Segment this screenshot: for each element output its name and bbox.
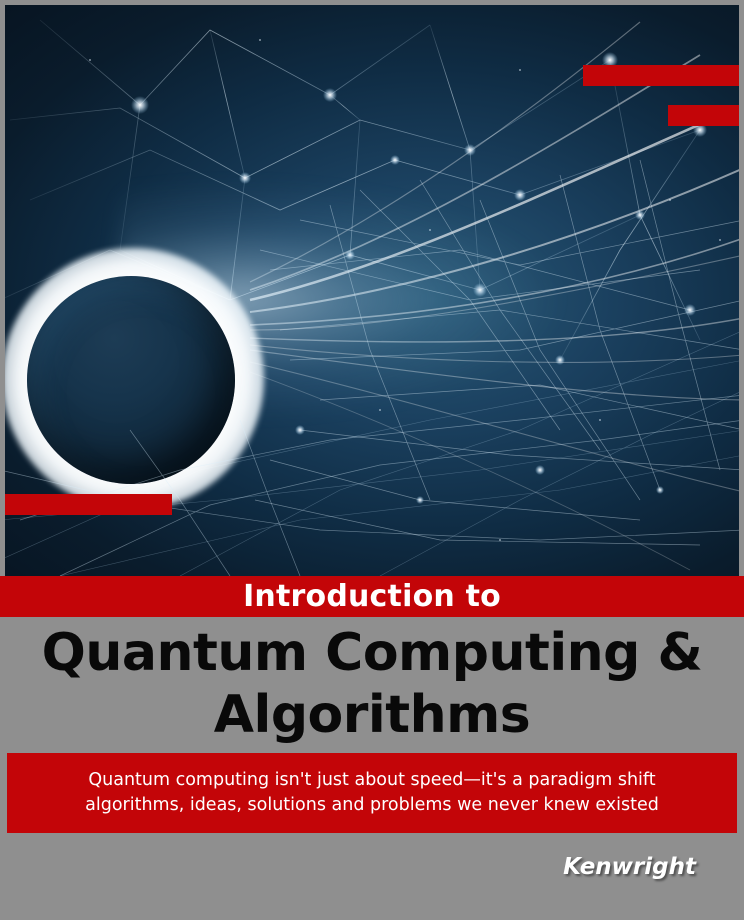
page-title: Quantum Computing & Algorithms	[0, 622, 744, 746]
author-name: Kenwright	[563, 853, 696, 881]
accent-bar-top-right-2	[668, 105, 744, 126]
subtitle-banner: Quantum computing isn't just about speed…	[7, 753, 737, 833]
book-cover: Introduction to Quantum Computing & Algo…	[0, 0, 744, 920]
kicker-text: Introduction to	[243, 582, 501, 612]
accent-bar-left	[0, 494, 172, 515]
subtitle-line-2: algorithms, ideas, solutions and problem…	[85, 793, 659, 818]
accent-bar-top-right-1	[583, 65, 744, 86]
subtitle-line-1: Quantum computing isn't just about speed…	[88, 768, 655, 793]
foreground-filaments	[0, 0, 744, 576]
kicker-banner: Introduction to	[0, 576, 744, 617]
title-line-1: Quantum Computing &	[0, 622, 744, 684]
cover-artwork	[0, 0, 744, 576]
title-line-2: Algorithms	[0, 684, 744, 746]
